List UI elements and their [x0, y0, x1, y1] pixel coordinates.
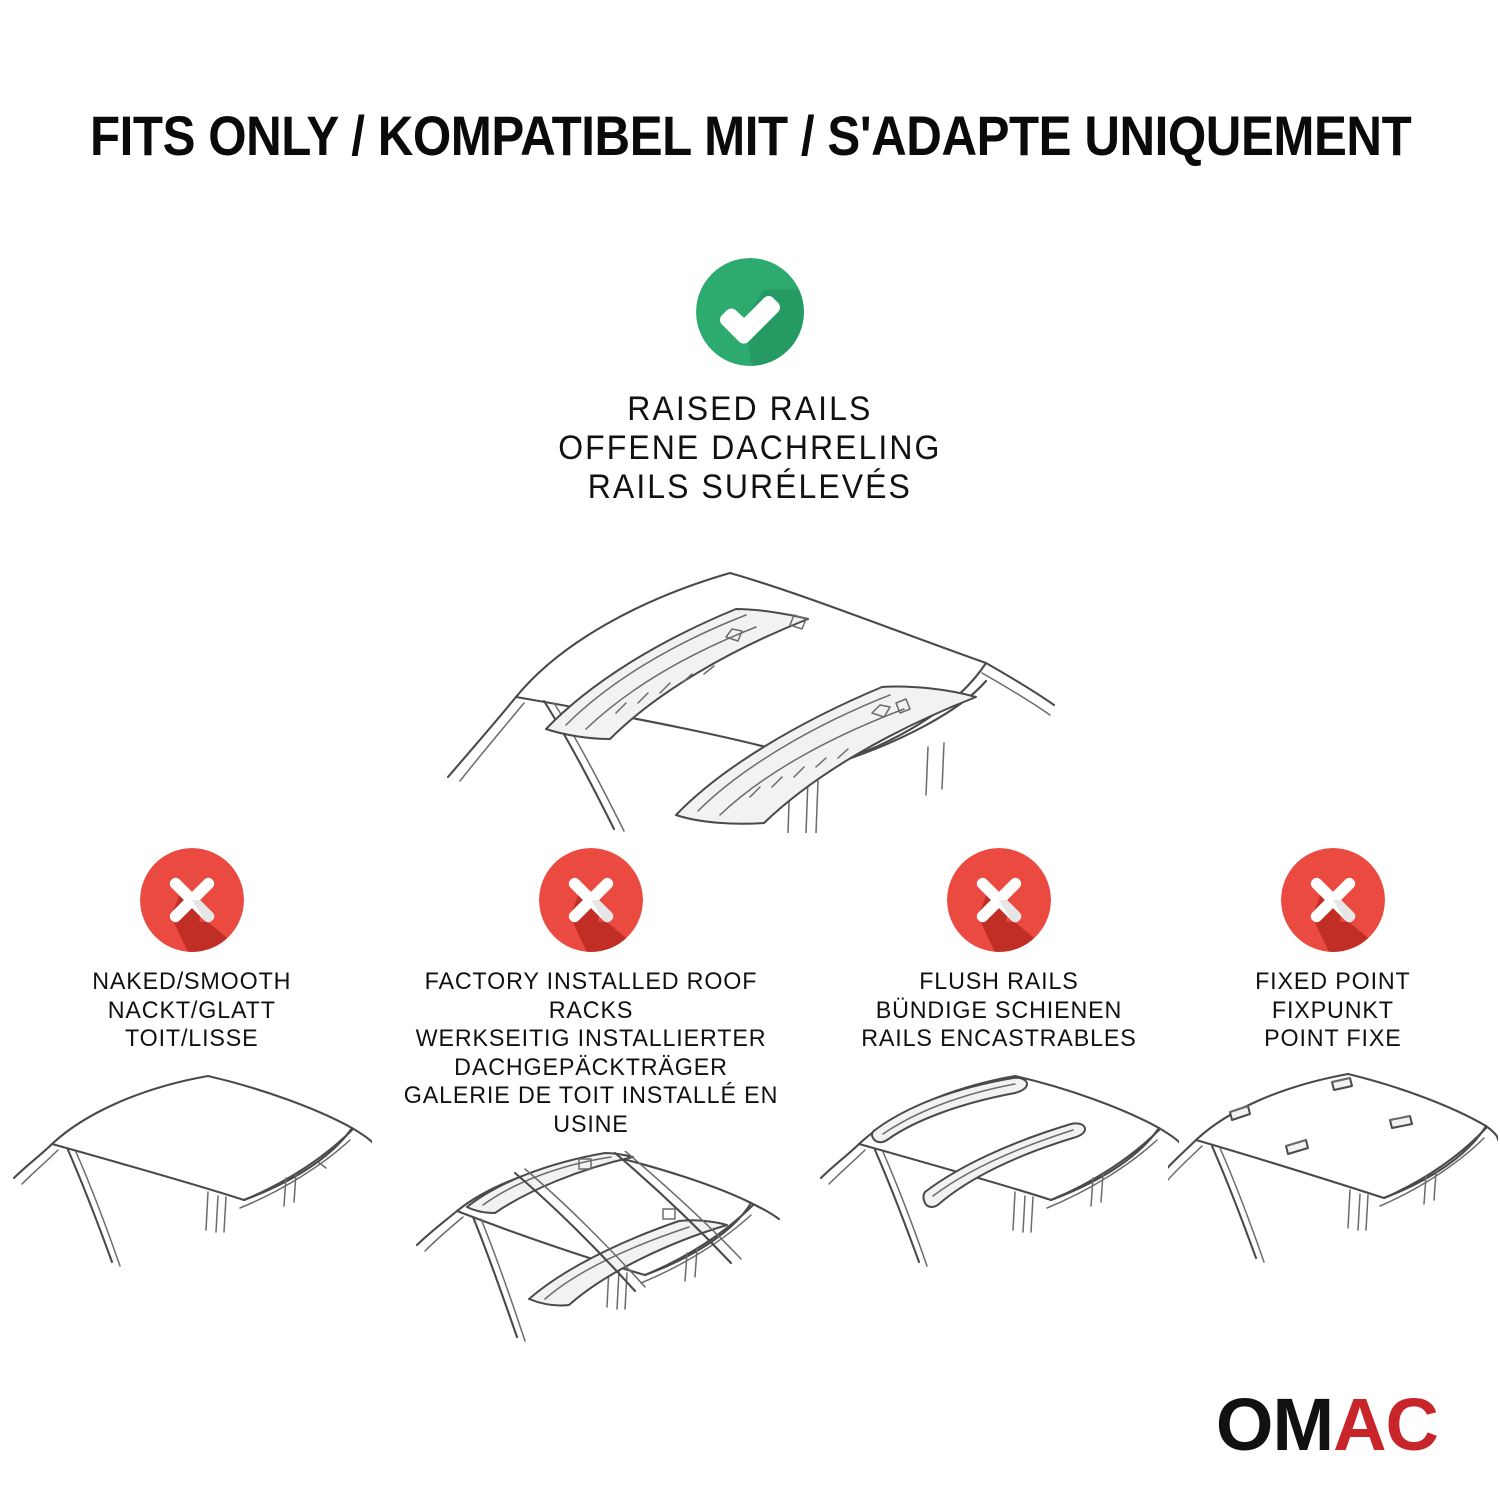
- label-line: DACHGEPÄCKTRÄGER: [382, 1054, 800, 1083]
- x-icon-circle: [140, 848, 244, 952]
- compatible-section: RAISED RAILS OFFENE DACHRELING RAILS SUR…: [0, 258, 1500, 833]
- label-line: TOIT/LISSE: [92, 1025, 291, 1054]
- incompatible-label-naked-smooth: NAKED/SMOOTH NACKT/GLATT TOIT/LISSE: [92, 968, 291, 1054]
- logo-text-red: AC: [1333, 1388, 1438, 1462]
- fitment-infographic: FITS ONLY / KOMPATIBEL MIT / S'ADAPTE UN…: [0, 0, 1500, 1500]
- label-line: POINT FIXE: [1255, 1025, 1411, 1054]
- incompatible-label-fixed-point: FIXED POINT FIXPUNKT POINT FIXE: [1255, 968, 1411, 1054]
- label-line: FACTORY INSTALLED ROOF RACKS: [382, 968, 800, 1025]
- x-circle-icon: [947, 848, 1051, 952]
- x-icon-svg: [140, 848, 244, 952]
- x-icon-svg: [947, 848, 1051, 952]
- x-icon-svg: [539, 848, 643, 952]
- incompatible-section: NAKED/SMOOTH NACKT/GLATT TOIT/LISSE: [0, 848, 1500, 1371]
- x-circle-icon: [539, 848, 643, 952]
- incompatible-item-factory-roof-racks: FACTORY INSTALLED ROOF RACKS WERKSEITIG …: [371, 848, 811, 1371]
- check-icon-svg: [696, 258, 804, 366]
- car-roof-flush-rails-illustration: [819, 1066, 1179, 1286]
- label-line: FLUSH RAILS: [862, 968, 1137, 997]
- compatible-label-en: RAISED RAILS: [558, 390, 941, 429]
- x-icon-circle: [947, 848, 1051, 952]
- label-line: GALERIE DE TOIT INSTALLÉ EN USINE: [382, 1082, 800, 1139]
- incompatible-label-factory-roof-racks: FACTORY INSTALLED ROOF RACKS WERKSEITIG …: [382, 968, 800, 1139]
- x-circle-icon: [140, 848, 244, 952]
- x-icon-circle: [539, 848, 643, 952]
- car-roof-factory-roof-racks-illustration: [401, 1151, 781, 1371]
- label-line: NACKT/GLATT: [92, 997, 291, 1026]
- label-line: RAILS ENCASTRABLES: [862, 1025, 1137, 1054]
- car-roof-naked-smooth-illustration: [12, 1066, 372, 1286]
- check-circle-icon: [696, 258, 804, 366]
- compatible-label: RAISED RAILS OFFENE DACHRELING RAILS SUR…: [558, 390, 941, 507]
- label-line: BÜNDIGE SCHIENEN: [862, 997, 1137, 1026]
- incompatible-item-flush-rails: FLUSH RAILS BÜNDIGE SCHIENEN RAILS ENCAS…: [819, 848, 1179, 1286]
- compatible-label-fr: RAILS SURÉLEVÉS: [558, 468, 941, 507]
- label-line: FIXED POINT: [1255, 968, 1411, 997]
- logo-text-dark: OM: [1216, 1388, 1333, 1462]
- car-roof-fixed-point-illustration: [1168, 1066, 1498, 1286]
- label-line: FIXPUNKT: [1255, 997, 1411, 1026]
- compatible-label-de: OFFENE DACHRELING: [558, 429, 941, 468]
- label-line: NAKED/SMOOTH: [92, 968, 291, 997]
- incompatible-label-flush-rails: FLUSH RAILS BÜNDIGE SCHIENEN RAILS ENCAS…: [862, 968, 1137, 1054]
- car-roof-raised-rails-illustration: [420, 533, 1080, 833]
- x-icon-svg: [1281, 848, 1385, 952]
- x-circle-icon: [1281, 848, 1385, 952]
- incompatible-item-fixed-point: FIXED POINT FIXPUNKT POINT FIXE: [1188, 848, 1478, 1286]
- incompatible-item-naked-smooth: NAKED/SMOOTH NACKT/GLATT TOIT/LISSE: [22, 848, 362, 1286]
- check-icon-circle: [696, 258, 804, 366]
- x-icon-circle: [1281, 848, 1385, 952]
- omac-logo: OMAC: [1216, 1388, 1438, 1462]
- page-title: FITS ONLY / KOMPATIBEL MIT / S'ADAPTE UN…: [90, 104, 1410, 168]
- label-line: WERKSEITIG INSTALLIERTER: [382, 1025, 800, 1054]
